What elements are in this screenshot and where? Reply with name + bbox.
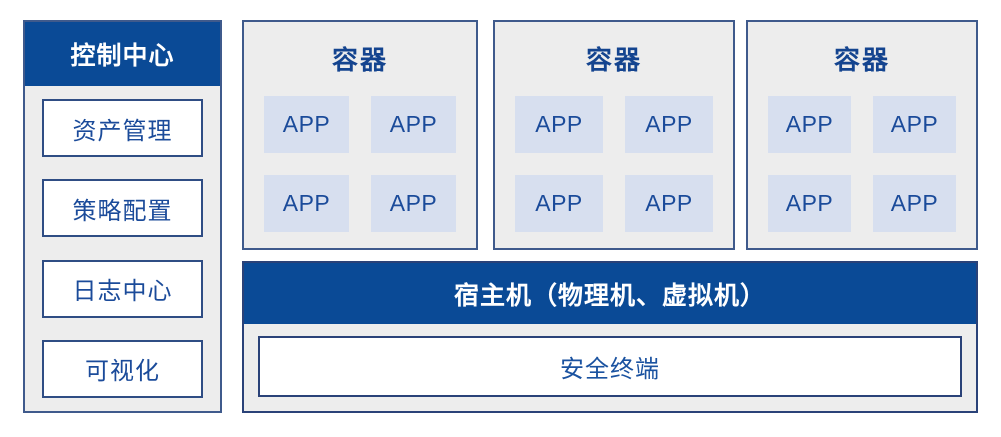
app-box[interactable]: APP [625, 96, 713, 153]
app-box[interactable]: APP [264, 96, 349, 153]
architecture-diagram: 控制中心 资产管理 策略配置 日志中心 可视化 容器 APP APP APP A… [0, 0, 1001, 437]
control-center-item-visualization[interactable]: 可视化 [42, 340, 203, 398]
app-box[interactable]: APP [371, 96, 456, 153]
app-box[interactable]: APP [371, 175, 456, 232]
app-grid-2: APP APP APP APP [495, 96, 733, 246]
app-grid-3: APP APP APP APP [748, 96, 976, 246]
control-center-item-log-center[interactable]: 日志中心 [42, 260, 203, 318]
container-title-2: 容器 [495, 40, 733, 77]
security-endpoint-box[interactable]: 安全终端 [258, 336, 962, 397]
control-center-header: 控制中心 [25, 22, 220, 86]
container-title-1: 容器 [244, 40, 476, 77]
control-center-item-asset-management[interactable]: 资产管理 [42, 99, 203, 157]
container-title-3: 容器 [748, 40, 976, 77]
app-box[interactable]: APP [768, 96, 851, 153]
app-box[interactable]: APP [515, 96, 603, 153]
container-panel-2: 容器 APP APP APP APP [493, 20, 735, 250]
container-panel-3: 容器 APP APP APP APP [746, 20, 978, 250]
control-center-item-list: 资产管理 策略配置 日志中心 可视化 [25, 86, 220, 411]
control-center-item-policy-configuration[interactable]: 策略配置 [42, 179, 203, 237]
app-box[interactable]: APP [873, 175, 956, 232]
app-box[interactable]: APP [515, 175, 603, 232]
app-box[interactable]: APP [264, 175, 349, 232]
app-box[interactable]: APP [873, 96, 956, 153]
host-machine-body: 安全终端 [244, 324, 976, 411]
control-center-panel: 控制中心 资产管理 策略配置 日志中心 可视化 [23, 20, 222, 413]
host-machine-panel: 宿主机（物理机、虚拟机） 安全终端 [242, 261, 978, 413]
host-machine-header: 宿主机（物理机、虚拟机） [244, 263, 976, 324]
app-box[interactable]: APP [625, 175, 713, 232]
app-box[interactable]: APP [768, 175, 851, 232]
app-grid-1: APP APP APP APP [244, 96, 476, 246]
container-panel-1: 容器 APP APP APP APP [242, 20, 478, 250]
